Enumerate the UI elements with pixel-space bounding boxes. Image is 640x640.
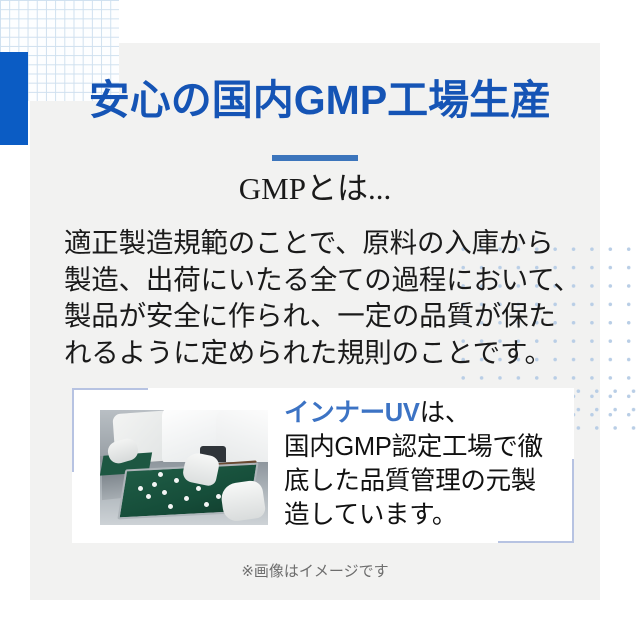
card-content: インナーUVは、 国内GMP認定工場で徹 底した品質管理の元製 造しています。 — [72, 388, 574, 543]
description-line: 適正製造規範のことで、原料の入庫から — [64, 225, 564, 262]
description-line: 製品が安全に作られ、一定の品質が保た — [64, 298, 564, 335]
page-title: 安心の国内GMP工場生産 — [30, 78, 610, 123]
photo-tablet — [216, 494, 221, 499]
card-description-line: 造しています。 — [284, 498, 568, 532]
left-accent-bar — [0, 52, 28, 145]
card-description-line-1: インナーUVは、 — [284, 396, 568, 430]
photo-tablet — [152, 482, 157, 487]
photo-tablet — [184, 496, 189, 501]
title-divider — [272, 155, 358, 161]
description-paragraph: 適正製造規範のことで、原料の入庫から 製造、出荷にいたる全ての過程において、 製… — [64, 225, 564, 371]
card-description-line: 底した品質管理の元製 — [284, 464, 568, 498]
card-line1-suffix: は、 — [420, 399, 470, 427]
photo-tablet — [168, 504, 173, 509]
card-description-line: 国内GMP認定工場で徹 — [284, 430, 568, 464]
brand-name: インナーUV — [284, 399, 420, 427]
factory-photo — [100, 410, 268, 525]
photo-tablet — [138, 486, 143, 491]
photo-tablet — [174, 478, 179, 483]
photo-gloved-hand — [220, 479, 267, 522]
description-line: 製造、出荷にいたる全ての過程において、 — [64, 262, 564, 299]
title-divider-wrapper — [30, 148, 600, 166]
image-disclaimer: ※画像はイメージです — [30, 560, 600, 581]
description-line: れるように定められた規則のことです。 — [64, 335, 564, 372]
photo-tablet — [204, 502, 209, 507]
section-subtitle: GMPとは... — [30, 170, 600, 207]
photo-tablet — [146, 494, 151, 499]
card-description: インナーUVは、 国内GMP認定工場で徹 底した品質管理の元製 造しています。 — [284, 396, 568, 533]
infographic-stage: 安心の国内GMP工場生産 GMPとは... 適正製造規範のことで、原料の入庫から… — [0, 0, 640, 640]
photo-tablet — [196, 486, 201, 491]
photo-tablet — [158, 472, 163, 477]
highlight-card: インナーUVは、 国内GMP認定工場で徹 底した品質管理の元製 造しています。 — [72, 388, 574, 543]
photo-tablet — [162, 490, 167, 495]
